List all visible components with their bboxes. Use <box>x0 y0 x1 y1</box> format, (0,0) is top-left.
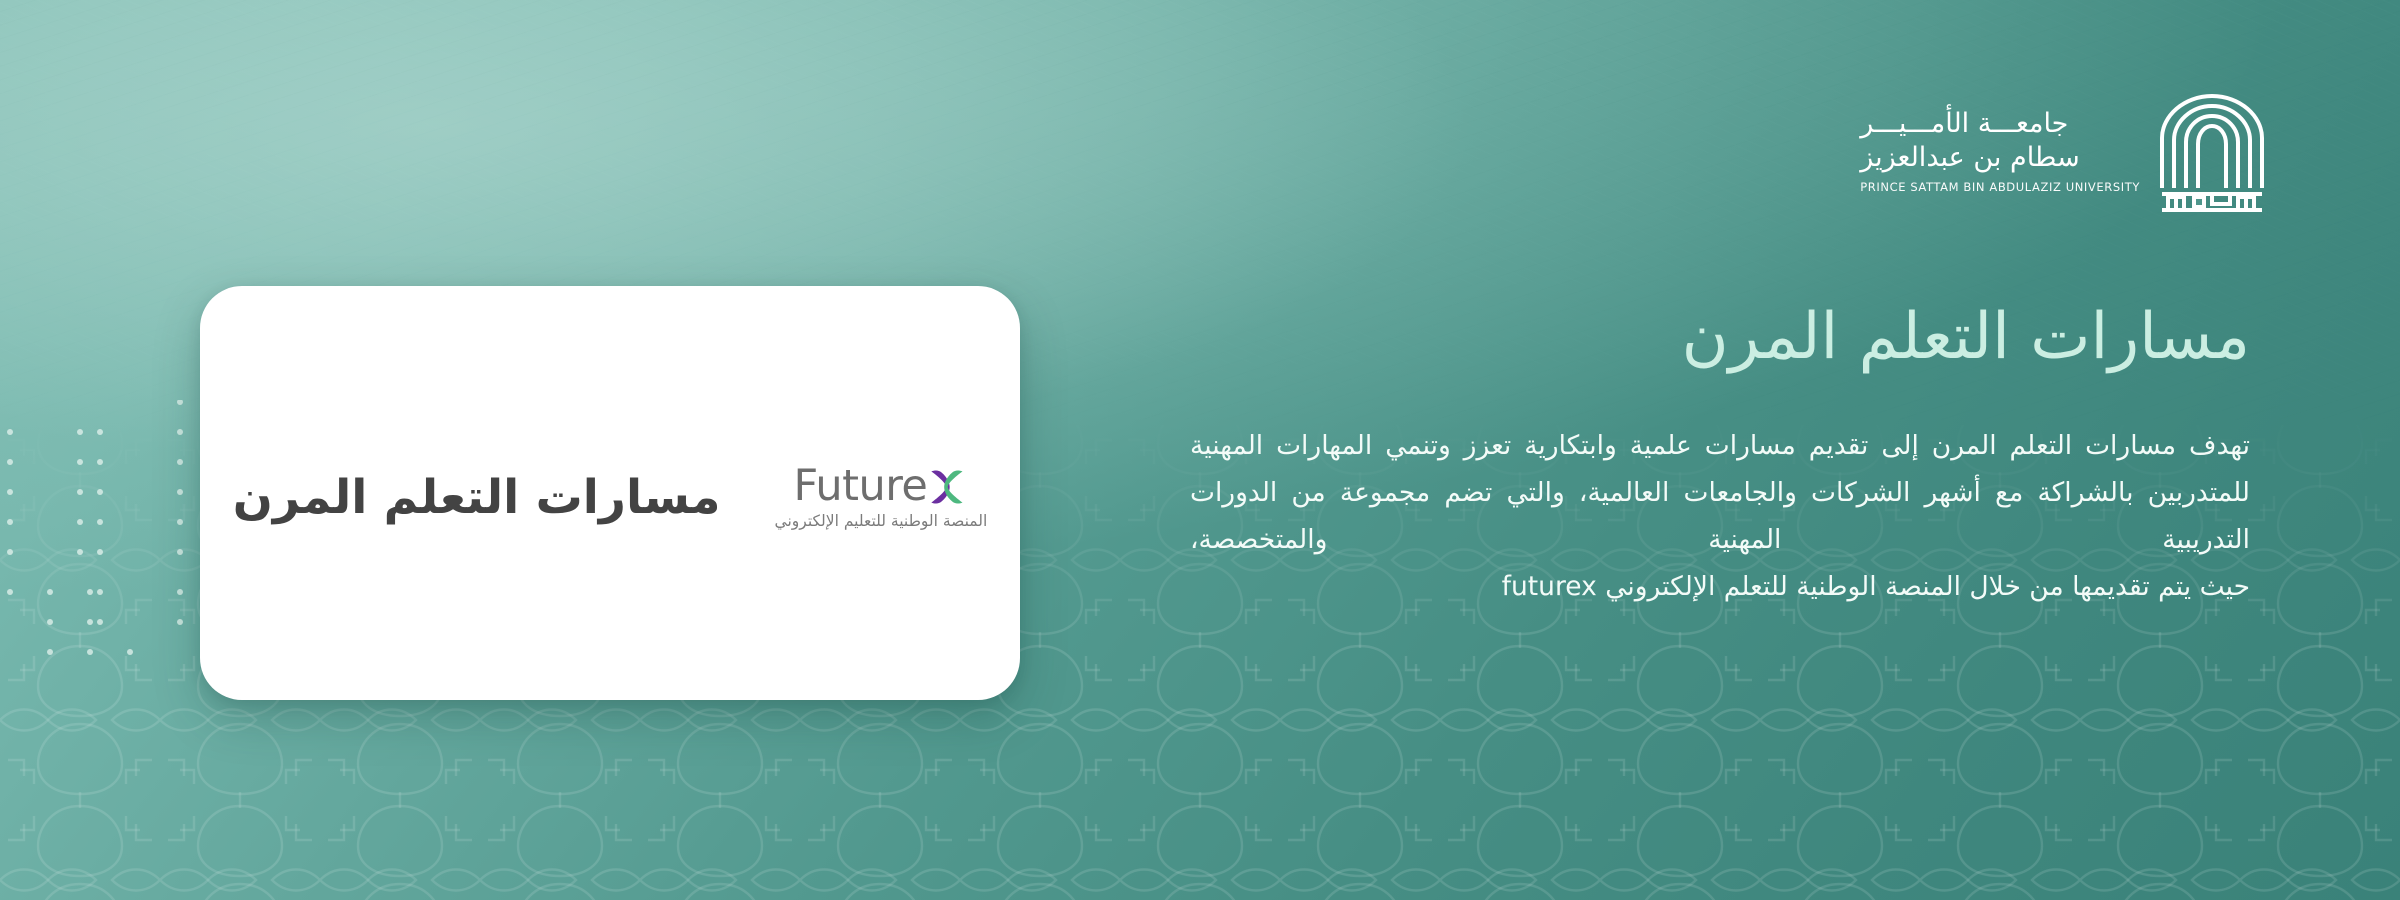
futurex-logo: Future المنصة الوطنية للتعليم الإلكتروني <box>775 465 988 530</box>
dot-grid-decoration <box>0 400 214 740</box>
futurex-wordmark: Future <box>793 465 927 508</box>
university-name-ar-line1: جامعـــة الأمـــيـــر <box>1860 108 2068 140</box>
feature-card: مسارات التعلم المرن Future المنصة الوطني… <box>200 286 1020 700</box>
card-title: مسارات التعلم المرن <box>233 474 721 521</box>
university-name-en: PRINCE SATTAM BIN ABDULAZIZ UNIVERSITY <box>1860 180 2140 194</box>
psau-arch-emblem-icon <box>2156 92 2268 212</box>
university-logo: جامعـــة الأمـــيـــر سطام بن عبدالعزيز … <box>1860 92 2268 212</box>
card-content: مسارات التعلم المرن Future المنصة الوطني… <box>233 465 988 530</box>
description-paragraph: تهدف مسارات التعلم المرن إلى تقديم مسارا… <box>1190 422 2250 611</box>
university-wordmark: جامعـــة الأمـــيـــر سطام بن عبدالعزيز … <box>1860 108 2140 196</box>
banner-root: مسارات التعلم المرن Future المنصة الوطني… <box>0 0 2400 900</box>
futurex-subtitle: المنصة الوطنية للتعليم الإلكتروني <box>775 514 988 530</box>
description-line: تهدف مسارات التعلم المرن إلى تقديم مسارا… <box>1385 430 2250 461</box>
description-line: حيث يتم تقديمها من خلال المنصة الوطنية ل… <box>1190 563 2250 610</box>
page-title: مسارات التعلم المرن <box>1190 300 2250 376</box>
futurex-wordmark-row: Future <box>793 465 968 509</box>
content-column: مسارات التعلم المرن تهدف مسارات التعلم ا… <box>1190 300 2250 610</box>
futurex-x-icon <box>924 465 968 509</box>
university-name-ar-line2: سطام بن عبدالعزيز <box>1860 142 2079 174</box>
